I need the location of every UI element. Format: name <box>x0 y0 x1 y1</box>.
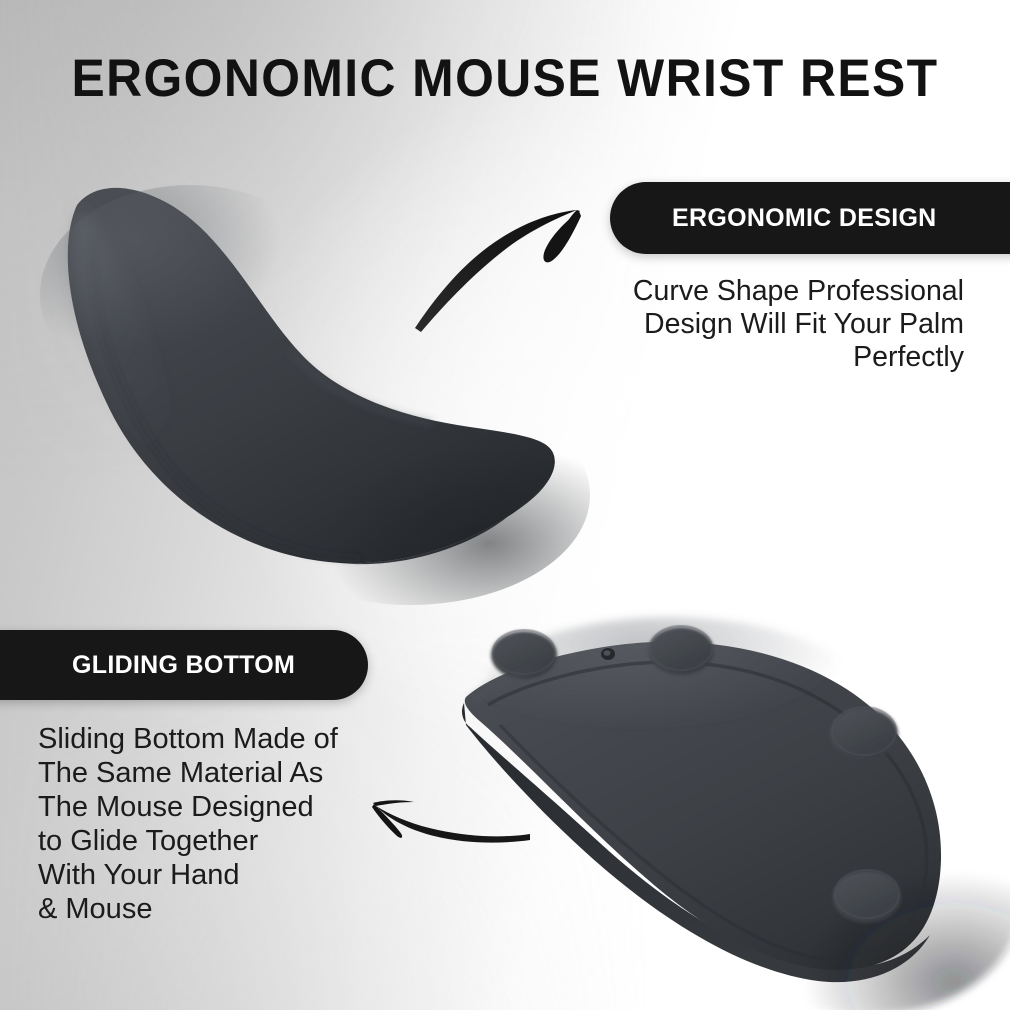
arrow-head-barb-upper <box>373 800 414 806</box>
callout-body-line: Curve Shape Professional <box>534 275 964 308</box>
callout-body-ergonomic-design: Curve Shape Professional Design Will Fit… <box>534 275 964 374</box>
callout-badge-label: GLIDING BOTTOM <box>72 651 295 680</box>
callout-badge-ergonomic-design: ERGONOMIC DESIGN <box>610 182 1010 254</box>
product-image-bottom-view <box>440 585 1010 985</box>
vent-hole <box>601 648 615 660</box>
page-title: ERGONOMIC MOUSE WRIST REST <box>30 48 979 110</box>
callout-badge-label: ERGONOMIC DESIGN <box>672 204 937 233</box>
callout-body-line: With Your Hand <box>38 858 458 892</box>
callout-body-line: Design Will Fit Your Palm <box>534 308 964 341</box>
product-shading-light <box>40 185 340 405</box>
callout-badge-gliding-bottom: GLIDING BOTTOM <box>0 630 368 700</box>
callout-body-line: Sliding Bottom Made of <box>38 722 458 756</box>
callout-body-line: Perfectly <box>534 341 964 374</box>
callout-body-line: & Mouse <box>38 892 458 926</box>
infographic-canvas: ERGONOMIC MOUSE WRIST REST <box>0 0 1010 1010</box>
